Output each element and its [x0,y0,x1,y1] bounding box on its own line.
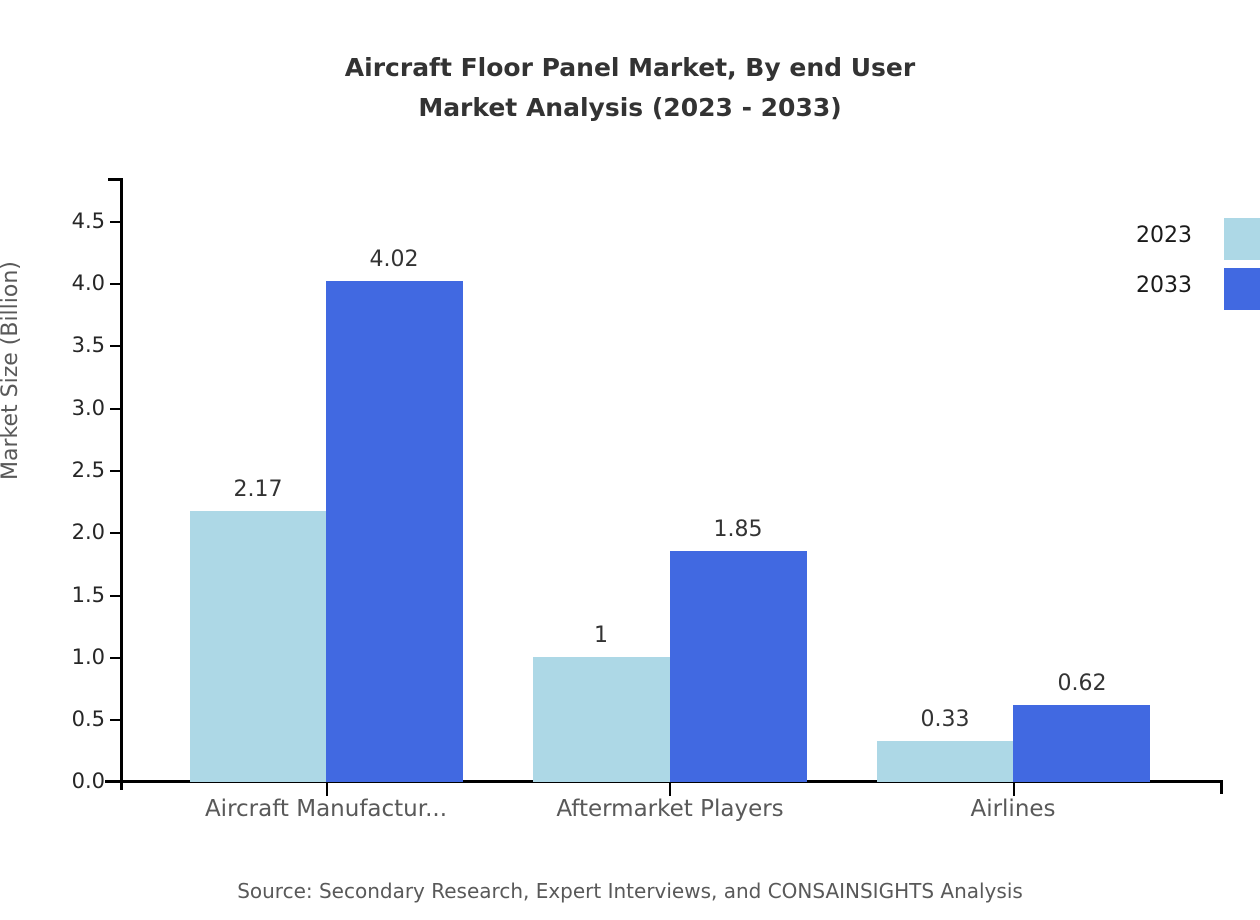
y-tick-mark [110,595,122,597]
y-tick-mark [110,283,122,285]
chart-legend: 2023 2033 [1100,218,1260,310]
y-tick-mark [110,781,122,783]
y-tick-mark [110,719,122,721]
x-axis-right-cap [1220,780,1223,794]
y-tick-mark [110,345,122,347]
y-tick-label: 1.0 [72,647,105,668]
plot-area: Market Size (Billion) 0.0 0.5 1.0 1.5 2.… [0,0,1260,920]
bar-2023-aircraft-manufacturers[interactable] [190,511,327,782]
y-tick-mark [110,470,122,472]
bar-chart: Aircraft Floor Panel Market, By end User… [0,0,1260,920]
bar-value-label: 0.62 [1058,673,1107,695]
x-axis-category-label: Airlines [970,795,1055,823]
y-tick-label: 0.0 [72,771,105,792]
y-tick-label: 0.5 [72,709,105,730]
y-axis-top-cap [108,178,123,181]
legend-label-2023: 2023 [1136,225,1192,247]
y-tick-label: 1.5 [72,585,105,606]
bar-value-label: 1.85 [714,519,763,541]
y-tick-label: 2.5 [72,460,105,481]
y-tick-label: 3.0 [72,398,105,419]
bar-2033-airlines[interactable] [1013,705,1150,782]
source-note: Source: Secondary Research, Expert Inter… [0,878,1260,904]
legend-item-2023[interactable]: 2023 [1100,218,1260,260]
bar-value-label: 0.33 [921,709,970,731]
y-tick-label: 2.0 [72,522,105,543]
y-tick-mark [110,532,122,534]
bar-2023-airlines[interactable] [877,741,1014,782]
bar-value-label: 4.02 [370,249,419,271]
y-axis-line [120,178,123,790]
x-axis-category-label: Aftermarket Players [556,795,783,823]
bar-value-label: 2.17 [234,479,283,501]
legend-label-2033: 2033 [1136,275,1192,297]
y-tick-mark [110,408,122,410]
bar-2033-aircraft-manufacturers[interactable] [326,281,463,782]
legend-item-2033[interactable]: 2033 [1100,268,1260,310]
bar-value-label: 1 [594,625,608,647]
y-tick-label: 4.5 [72,211,105,232]
y-axis-title: Market Size (Billion) [0,261,22,480]
bar-2023-aftermarket-players[interactable] [533,657,670,782]
legend-swatch-2023 [1224,218,1260,260]
bar-2033-aftermarket-players[interactable] [670,551,807,782]
y-tick-label: 4.0 [72,273,105,294]
y-tick-mark [110,221,122,223]
legend-swatch-2033 [1224,268,1260,310]
x-axis-category-label: Aircraft Manufactur... [205,795,447,823]
y-tick-mark [110,657,122,659]
y-tick-label: 3.5 [72,335,105,356]
